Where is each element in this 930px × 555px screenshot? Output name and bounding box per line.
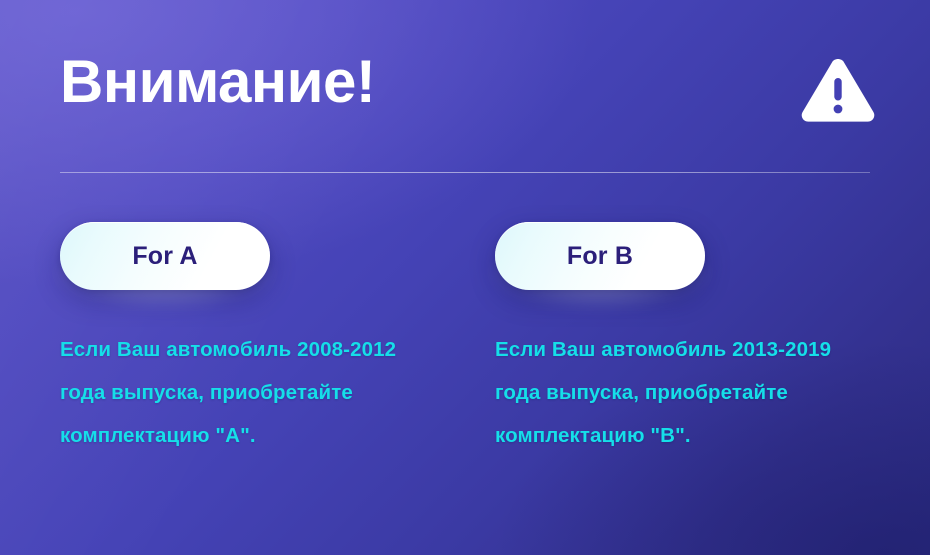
option-b-description: Если Ваш автомобиль 2013-2019 года выпус… bbox=[495, 290, 875, 457]
for-a-button[interactable]: For A bbox=[60, 222, 270, 290]
pill-wrapper-a: For A bbox=[60, 222, 270, 290]
option-column-b: For B Если Ваш автомобиль 2013-2019 года… bbox=[495, 222, 875, 457]
warning-triangle-icon bbox=[800, 58, 876, 124]
banner-content: Внимание! For A Если Ваш автомобиль 2008… bbox=[0, 0, 930, 555]
pill-wrapper-b: For B bbox=[495, 222, 705, 290]
header-divider bbox=[60, 172, 870, 173]
for-b-button[interactable]: For B bbox=[495, 222, 705, 290]
option-column-a: For A Если Ваш автомобиль 2008-2012 года… bbox=[60, 222, 440, 457]
warning-banner: Внимание! For A Если Ваш автомобиль 2008… bbox=[0, 0, 930, 555]
page-title: Внимание! bbox=[60, 52, 375, 112]
option-a-description: Если Ваш автомобиль 2008-2012 года выпус… bbox=[60, 290, 440, 457]
